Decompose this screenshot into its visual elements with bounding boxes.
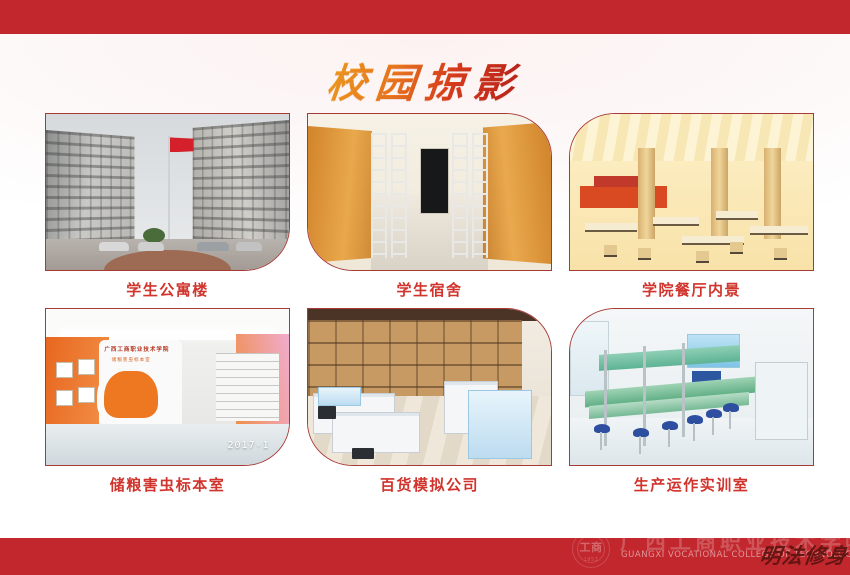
- page-title: 校园掠影: [324, 51, 526, 109]
- caption-production-operations-training-room: 生产运作实训室: [569, 466, 814, 503]
- photo-tile-college-canteen-interior[interactable]: [569, 113, 814, 271]
- photo-tile-production-operations-training-room[interactable]: [569, 308, 814, 466]
- stool: [638, 248, 651, 260]
- doorway: [420, 148, 449, 214]
- dining-table: [585, 223, 637, 232]
- photo-production-operations-training-room: [570, 309, 813, 465]
- orange-arch-graphic: [104, 371, 157, 418]
- photo-tile-student-dormitory[interactable]: [307, 113, 552, 271]
- photo-grid: 学生公寓楼 学生宿舍 学院餐厅内景 广西工商职业技术学院 储粮害虫标本室: [45, 113, 815, 503]
- seal-mark-text: 工商: [573, 539, 609, 555]
- stool: [774, 248, 787, 260]
- stool: [730, 242, 743, 254]
- national-flag-icon: [170, 137, 194, 152]
- car: [138, 242, 164, 251]
- bottom-red-band: 工商 1953 广西工商职业技术学院 GUANGXI VOCATIONAL CO…: [0, 538, 850, 575]
- seal-year-text: 1953: [573, 557, 609, 563]
- pillar: [711, 148, 728, 238]
- wall-frame: [78, 359, 95, 375]
- flagpole: [168, 136, 170, 239]
- equipment: [352, 448, 374, 459]
- motto-calligraphy: 明法修身: [758, 540, 850, 570]
- car: [197, 242, 229, 251]
- stool: [604, 245, 617, 257]
- lab-stool: [706, 409, 722, 418]
- photo-grain-pest-specimen-room: 广西工商职业技术学院 储粮害虫标本室 2017-1: [46, 309, 289, 465]
- wall-frame: [56, 362, 73, 378]
- info-board: [318, 387, 362, 406]
- dining-table: [750, 226, 808, 235]
- dining-table: [716, 211, 758, 220]
- counter-sign: [594, 176, 638, 187]
- photo-tile-student-apartment-building[interactable]: [45, 113, 290, 271]
- wall-frame: [56, 390, 73, 406]
- caption-student-apartment-building: 学生公寓楼: [45, 271, 290, 308]
- car: [99, 242, 129, 251]
- photo-tile-grain-pest-specimen-room[interactable]: 广西工商职业技术学院 储粮害虫标本室 2017-1: [45, 308, 290, 466]
- school-seal-logo-icon: 工商 1953: [572, 538, 610, 568]
- storage-cabinet: [755, 362, 808, 440]
- frame-post: [682, 343, 685, 437]
- caption-college-canteen-interior: 学院餐厅内景: [569, 271, 814, 308]
- pillar: [764, 148, 781, 238]
- wardrobe-left: [308, 126, 372, 263]
- wardrobe-right: [483, 122, 551, 264]
- photo-college-canteen-interior: [570, 114, 813, 270]
- bunk-ladder: [391, 133, 407, 258]
- photo-student-dormitory: [308, 114, 551, 270]
- wall-text-line-1: 广西工商职业技术学院: [104, 345, 169, 353]
- car: [236, 242, 262, 251]
- office-cubicle: [332, 412, 419, 453]
- photo-timestamp: 2017-1: [227, 440, 269, 451]
- campus-gallery-page: 校园掠影: [0, 0, 850, 575]
- wall-text-line-2: 储粮害虫标本室: [112, 357, 151, 363]
- lab-stool: [633, 428, 649, 437]
- lab-stool: [594, 424, 610, 433]
- bunk-ladder: [371, 133, 387, 258]
- stool: [696, 251, 709, 263]
- photo-tile-department-store-simulation-company[interactable]: [307, 308, 552, 466]
- lab-stool: [723, 403, 739, 412]
- photo-student-apartment-building: [46, 114, 289, 270]
- dining-table: [653, 217, 699, 226]
- lab-stool: [662, 421, 678, 430]
- bunk-ladder: [452, 133, 468, 258]
- bunk-ladder: [472, 133, 488, 258]
- caption-student-dormitory: 学生宿舍: [307, 271, 552, 308]
- caption-grain-pest-specimen-room: 储粮害虫标本室: [45, 466, 290, 503]
- specimen-display-shelf: [216, 353, 279, 422]
- top-red-band: [0, 0, 850, 34]
- info-board: [468, 390, 531, 459]
- page-title-container: 校园掠影: [0, 52, 850, 108]
- wall-frame: [78, 387, 95, 403]
- photo-department-store-simulation-company: [308, 309, 551, 465]
- lab-stool: [687, 415, 703, 424]
- footer-content: 工商 1953 广西工商职业技术学院 GUANGXI VOCATIONAL CO…: [0, 538, 850, 575]
- monitor: [318, 406, 336, 419]
- caption-department-store-simulation-company: 百货模拟公司: [307, 466, 552, 503]
